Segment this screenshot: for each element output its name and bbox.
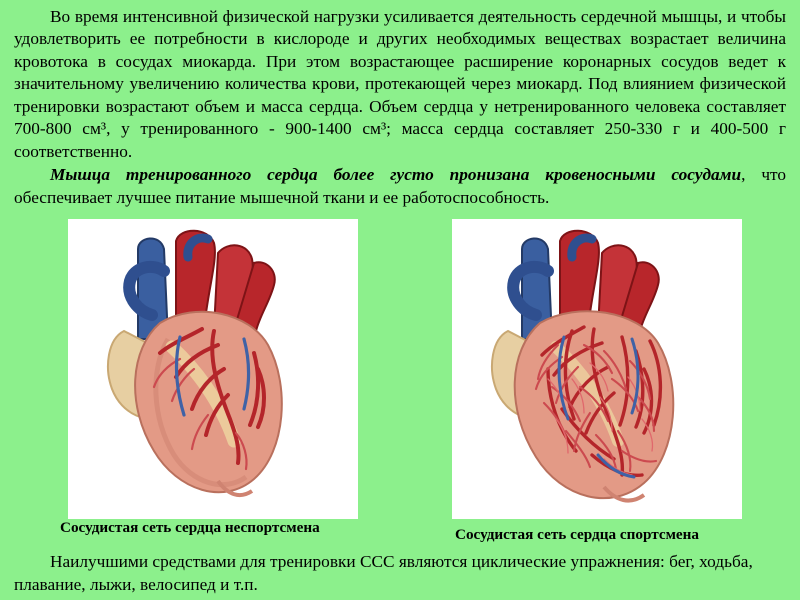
caption-trained: Сосудистая сеть сердца спортсмена bbox=[455, 526, 699, 544]
heart-illustration-untrained-svg bbox=[68, 219, 358, 519]
slide-root: Во время интенсивной физической нагрузки… bbox=[0, 0, 800, 600]
bottom-paragraph: Наилучшими средствами для тренировки ССС… bbox=[14, 551, 786, 597]
footer-text-block: Наилучшими средствами для тренировки ССС… bbox=[14, 551, 786, 597]
figure-untrained-heart bbox=[68, 219, 358, 519]
body-text-block: Во время интенсивной физической нагрузки… bbox=[14, 6, 786, 209]
heart-illustration-trained-svg bbox=[452, 219, 742, 519]
figures-row bbox=[0, 219, 800, 529]
paragraph-2: Мышца тренированного сердца более густо … bbox=[14, 164, 786, 209]
paragraph-1: Во время интенсивной физической нагрузки… bbox=[14, 6, 786, 163]
caption-untrained: Сосудистая сеть сердца неспортсмена bbox=[60, 519, 320, 537]
highlight-italic-text: Мышца тренированного сердца более густо … bbox=[50, 165, 741, 184]
figure-trained-heart bbox=[452, 219, 742, 519]
